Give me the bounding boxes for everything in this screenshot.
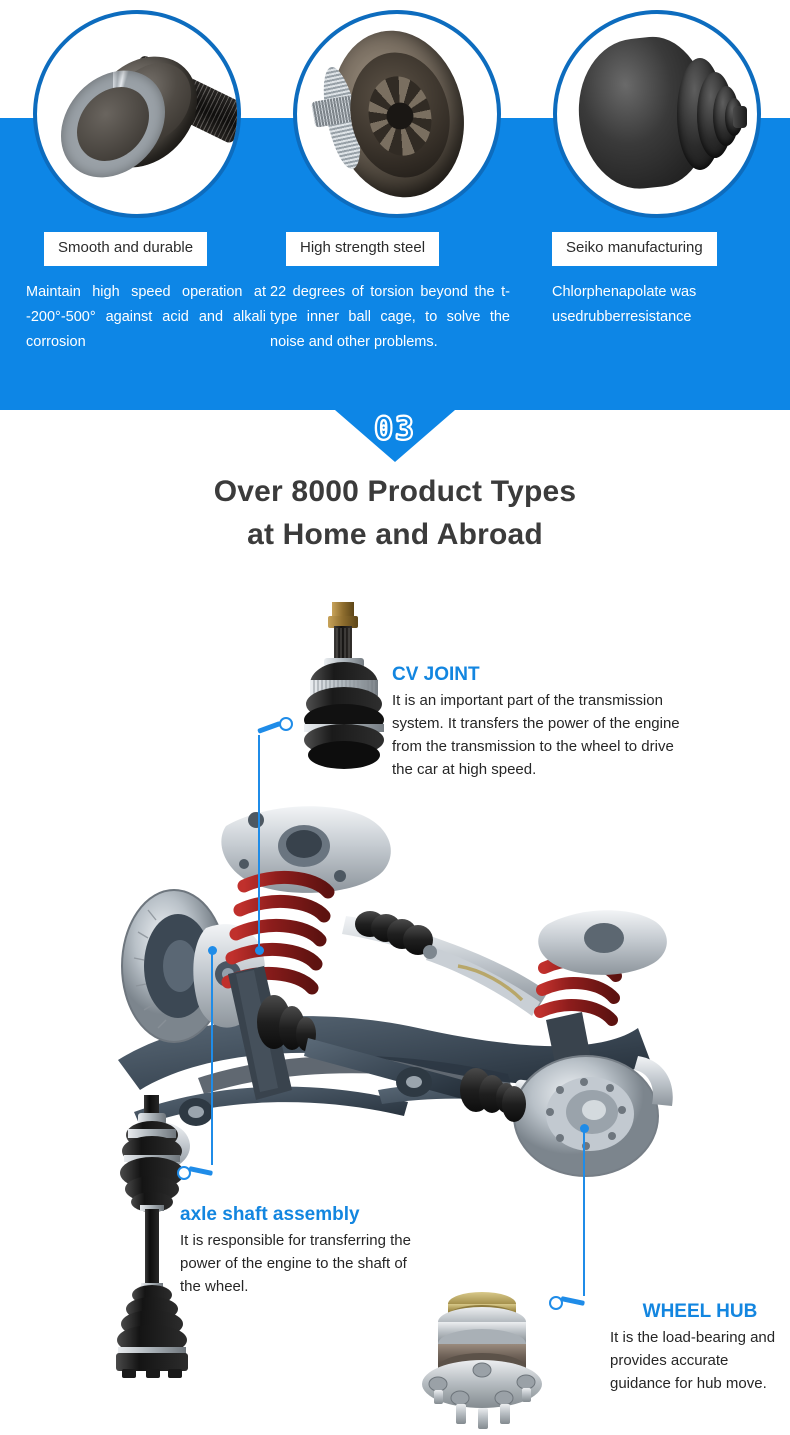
leader-vertical	[258, 735, 260, 951]
rubber-boot-illustration	[557, 14, 757, 214]
product-feature-page: 03 Smooth and durable Main	[0, 0, 790, 1435]
callout-wheel-hub: WHEEL HUB It is the load-bearing and pro…	[610, 1300, 790, 1395]
leader-stub	[257, 721, 281, 734]
feature-body-text: Maintain high speed operation at -200°-5…	[26, 280, 266, 355]
cv-joint-abs-ring-illustration	[37, 14, 237, 214]
leader-vertical	[583, 1130, 585, 1296]
cv-joint-photo	[288, 600, 400, 800]
feature-body-text: 22 degrees of torsion beyond the t-type …	[270, 280, 510, 355]
feature-body-text: Chlorphenapolate was usedrubberresistanc…	[552, 280, 790, 330]
feature-photo-inner-ball-cage	[293, 10, 501, 218]
callout-cv-joint: CV JOINT It is an important part of the …	[392, 663, 692, 781]
callout-title: WHEEL HUB	[610, 1300, 790, 1324]
leader-anchor-dot	[255, 946, 264, 955]
section-number-badge: 03	[0, 411, 790, 447]
feature-column-1: Smooth and durable Maintain high speed o…	[26, 232, 266, 355]
leader-stub	[560, 1296, 585, 1306]
boot-small-end	[733, 106, 747, 128]
leader-vertical	[211, 952, 213, 1165]
callout-axle-shaft-assembly: axle shaft assembly It is responsible fo…	[180, 1203, 420, 1298]
feature-column-2: High strength steel 22 degrees of torsio…	[270, 232, 510, 355]
feature-photo-cv-joint-abs-ring	[33, 10, 241, 218]
feature-chip-label: Seiko manufacturing	[552, 232, 717, 266]
abs-tone-ring	[61, 60, 165, 188]
wheel-hub-photo	[412, 1288, 552, 1430]
callout-body: It is an important part of the transmiss…	[392, 689, 692, 781]
callout-body: It is the load-bearing and provides accu…	[610, 1326, 790, 1395]
feature-chip-label: Smooth and durable	[44, 232, 207, 266]
inner-ball-cage-illustration	[297, 14, 497, 214]
callout-title: axle shaft assembly	[180, 1203, 420, 1227]
leader-endpoint-ring	[549, 1296, 563, 1310]
feature-photo-rubber-boot	[553, 10, 761, 218]
callout-body: It is responsible for transferring the p…	[180, 1229, 420, 1298]
leader-endpoint-ring	[177, 1166, 191, 1180]
feature-column-3: Seiko manufacturing Chlorphenapolate was…	[552, 232, 790, 330]
feature-chip-label: High strength steel	[286, 232, 439, 266]
callout-title: CV JOINT	[392, 663, 692, 687]
